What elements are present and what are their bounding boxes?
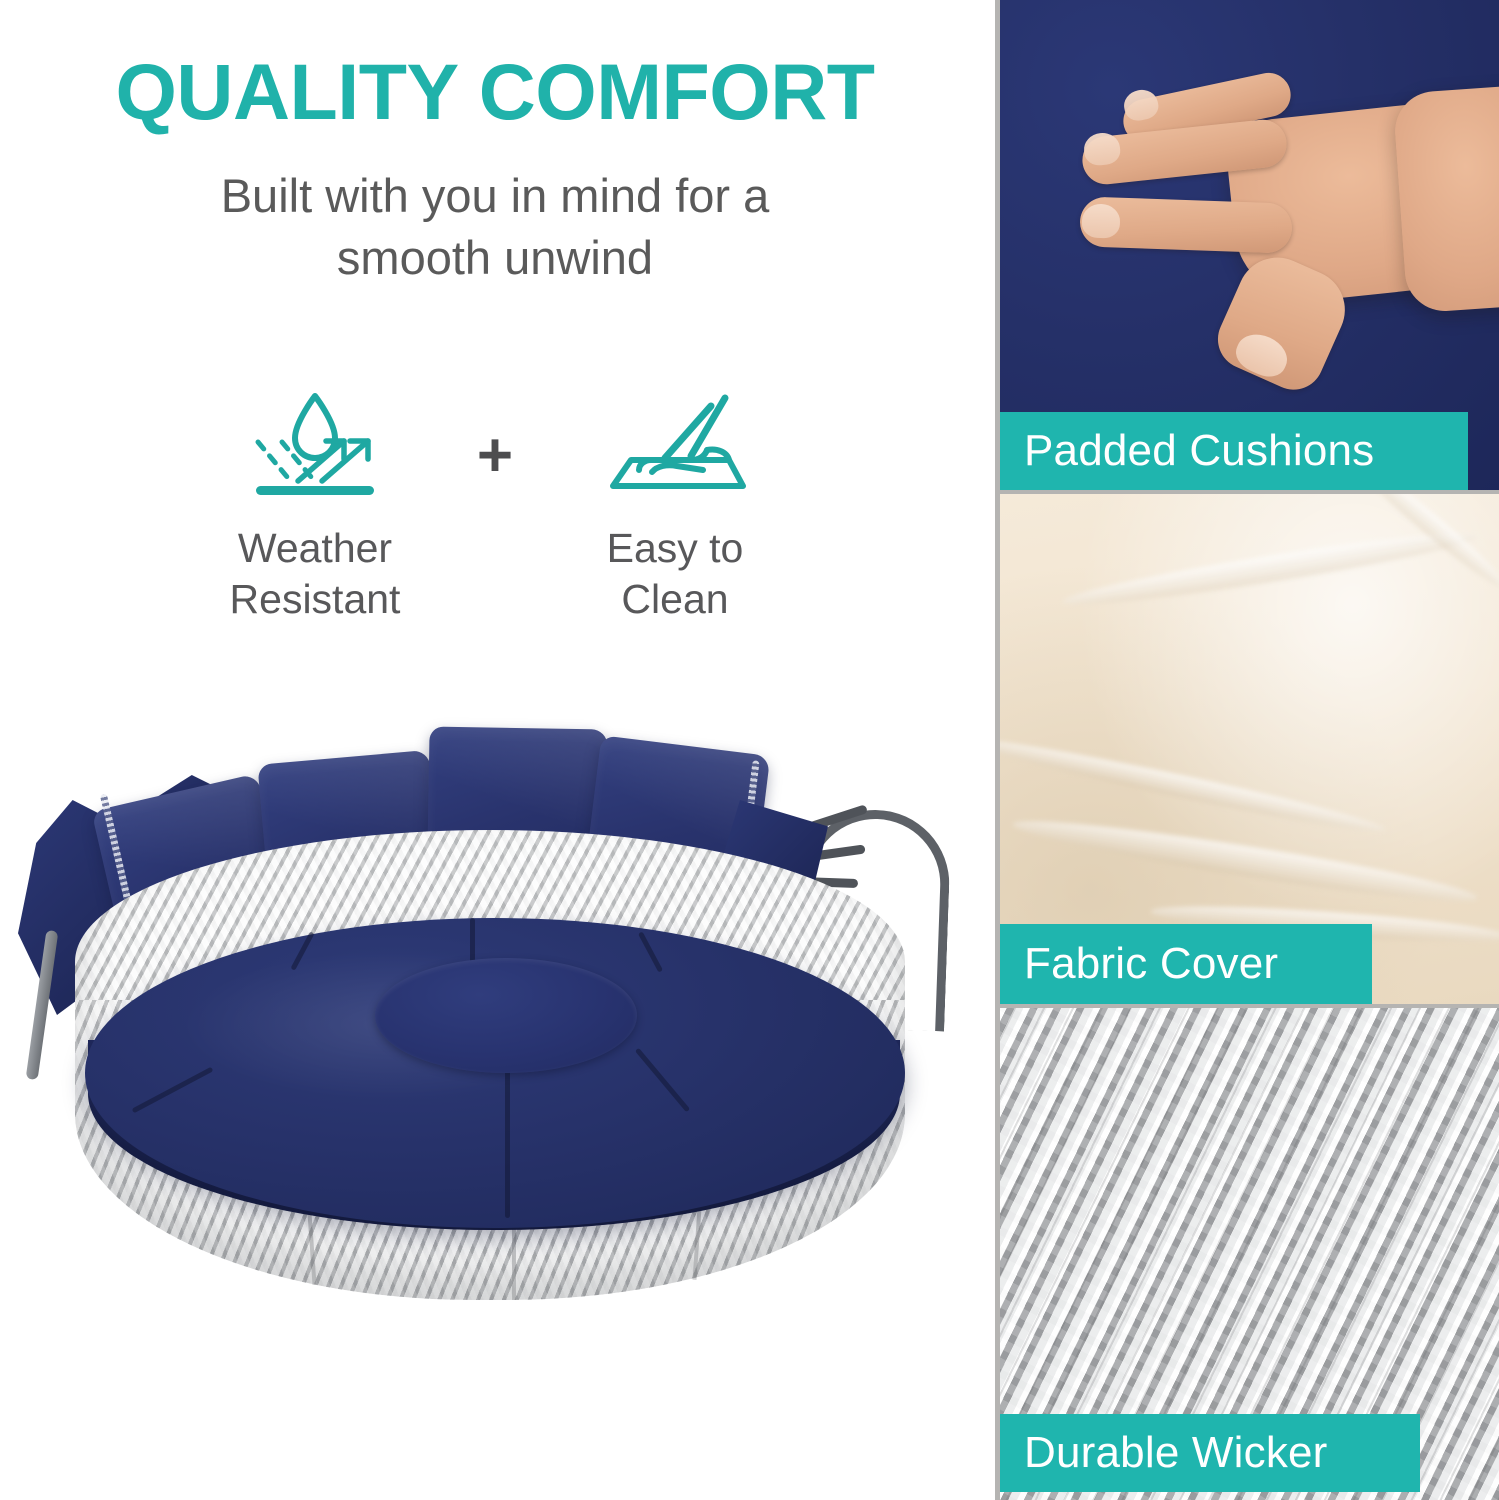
detail-panel-durable-wicker: Durable Wicker <box>995 1008 1499 1500</box>
seat-seam <box>505 1068 510 1218</box>
round-wicker-daybed-illustration <box>0 690 990 1500</box>
wipe-clean-hand-icon <box>595 385 755 505</box>
fabric-fold <box>1061 523 1480 614</box>
fingernail <box>1081 203 1120 238</box>
product-feature-infographic: QUALITY COMFORT Built with you in mind f… <box>0 0 1499 1500</box>
left-column: QUALITY COMFORT Built with you in mind f… <box>0 0 990 1500</box>
hand-wrist <box>1393 82 1499 313</box>
panel-caption: Durable Wicker <box>1000 1414 1420 1492</box>
page-subtitle: Built with you in mind for a smooth unwi… <box>145 165 845 289</box>
panel-caption: Fabric Cover <box>1000 924 1372 1004</box>
feature-separator: + <box>440 385 550 487</box>
product-photo <box>0 690 990 1500</box>
feature-label: Easy to Clean <box>607 523 744 626</box>
water-repellent-icon <box>240 385 390 505</box>
page-title: QUALITY COMFORT <box>0 52 990 131</box>
detail-panel-fabric-cover: Fabric Cover <box>995 494 1499 1004</box>
detail-panel-padded-cushions: Padded Cushions <box>995 0 1499 490</box>
fabric-fold <box>1011 809 1480 912</box>
feature-label: Weather Resistant <box>230 523 401 626</box>
seat-seam <box>470 918 475 964</box>
panel-caption: Padded Cushions <box>1000 412 1468 490</box>
feature-row: Weather Resistant + <box>150 385 840 626</box>
center-seat-cushion <box>375 958 637 1073</box>
detail-panel-column: Padded Cushions Fabric Cover Durable Wic… <box>990 0 1499 1500</box>
feature-easy-to-clean: Easy to Clean <box>550 385 800 626</box>
feature-weather-resistant: Weather Resistant <box>190 385 440 626</box>
